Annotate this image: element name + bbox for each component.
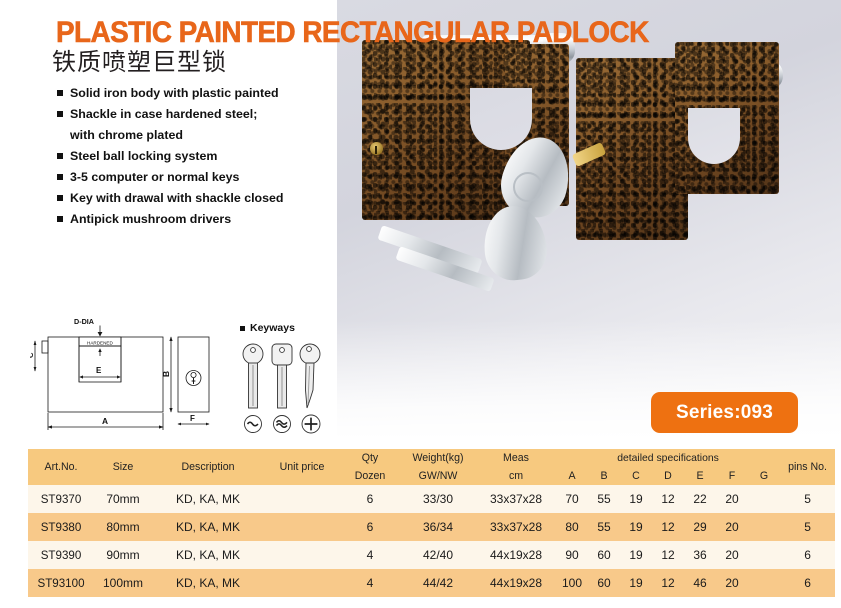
cell-qty-dozen: 6 bbox=[340, 485, 400, 513]
page-subtitle-chinese: 铁质喷塑巨型锁 bbox=[52, 50, 227, 74]
feature-item-continuation: with chrome plated bbox=[57, 128, 337, 144]
cell-spec-b: 60 bbox=[588, 541, 620, 569]
cell-art-no: ST9380 bbox=[28, 513, 94, 541]
cell-weight: 44/42 bbox=[400, 569, 476, 597]
cell-spec-d: 12 bbox=[652, 569, 684, 597]
feature-item: Key with drawal with shackle closed bbox=[57, 191, 337, 207]
cell-qty-dozen: 4 bbox=[340, 541, 400, 569]
cell-size: 90mm bbox=[94, 541, 152, 569]
header-weight-line1: Weight(kg) bbox=[400, 449, 476, 467]
header-spec-c: C bbox=[620, 467, 652, 485]
product-spec-sheet: Series:093 PLASTIC PAINTED RECTANGULAR P… bbox=[0, 0, 841, 608]
table-row: ST9380 80mm KD, KA, MK 6 36/34 33x37x28 … bbox=[28, 513, 835, 541]
cell-spec-f: 20 bbox=[716, 485, 748, 513]
cell-description: KD, KA, MK bbox=[152, 541, 264, 569]
table-row: ST93100 100mm KD, KA, MK 4 44/42 44x19x2… bbox=[28, 569, 835, 597]
header-unit-price: Unit price bbox=[264, 449, 340, 485]
dimension-label-e: E bbox=[96, 366, 102, 375]
feature-item: 3-5 computer or normal keys bbox=[57, 170, 337, 186]
feature-text: 3-5 computer or normal keys bbox=[70, 170, 239, 186]
cell-spec-g bbox=[748, 513, 780, 541]
cell-spec-f: 20 bbox=[716, 569, 748, 597]
cell-art-no: ST9390 bbox=[28, 541, 94, 569]
cell-unit-price bbox=[264, 513, 340, 541]
dimension-label-b: B bbox=[161, 371, 171, 377]
bullet-square-icon bbox=[57, 90, 63, 96]
keyways-illustration bbox=[240, 338, 340, 438]
header-spec-g: G bbox=[748, 467, 780, 485]
keyways-title: Keyways bbox=[240, 322, 340, 334]
cell-description: KD, KA, MK bbox=[152, 513, 264, 541]
feature-item: Shackle in case hardened steel; bbox=[57, 107, 337, 123]
cell-unit-price bbox=[264, 485, 340, 513]
key-ring bbox=[513, 172, 543, 202]
cell-spec-e: 36 bbox=[684, 541, 716, 569]
cell-spec-e: 22 bbox=[684, 485, 716, 513]
cell-spec-g bbox=[748, 485, 780, 513]
cell-pins-no: 6 bbox=[780, 569, 835, 597]
cell-spec-c: 19 bbox=[620, 513, 652, 541]
feature-text: Solid iron body with plastic painted bbox=[70, 86, 279, 102]
series-badge: Series:093 bbox=[651, 392, 798, 433]
product-photo-panel: Series:093 bbox=[337, 0, 841, 440]
cell-weight: 36/34 bbox=[400, 513, 476, 541]
cell-spec-d: 12 bbox=[652, 513, 684, 541]
cell-spec-c: 19 bbox=[620, 485, 652, 513]
header-weight-line2: GW/NW bbox=[400, 467, 476, 485]
padlock-left-shackle-gap bbox=[470, 88, 532, 150]
cell-weight: 42/40 bbox=[400, 541, 476, 569]
cell-spec-g bbox=[748, 541, 780, 569]
bullet-placeholder-icon bbox=[57, 132, 63, 138]
cell-spec-a: 100 bbox=[556, 569, 588, 597]
cell-pins-no: 6 bbox=[780, 541, 835, 569]
dimension-label-f: F bbox=[190, 414, 195, 423]
cell-spec-f: 20 bbox=[716, 513, 748, 541]
cell-description: KD, KA, MK bbox=[152, 485, 264, 513]
bullet-square-icon bbox=[57, 174, 63, 180]
table-header-group-row: Art.No. Size Description Unit price Qty … bbox=[28, 449, 835, 467]
header-spec-e: E bbox=[684, 467, 716, 485]
cell-spec-b: 55 bbox=[588, 485, 620, 513]
cell-meas: 44x19x28 bbox=[476, 541, 556, 569]
header-pins-no: pins No. bbox=[780, 449, 835, 485]
cell-unit-price bbox=[264, 541, 340, 569]
cell-pins-no: 5 bbox=[780, 485, 835, 513]
cell-qty-dozen: 4 bbox=[340, 569, 400, 597]
cell-spec-b: 55 bbox=[588, 513, 620, 541]
header-art-no: Art.No. bbox=[28, 449, 94, 485]
feature-item: Solid iron body with plastic painted bbox=[57, 86, 337, 102]
header-detailed-specifications: detailed specifications bbox=[556, 449, 780, 467]
specification-table-wrapper: Art.No. Size Description Unit price Qty … bbox=[28, 449, 815, 597]
cell-spec-c: 19 bbox=[620, 541, 652, 569]
cell-pins-no: 5 bbox=[780, 513, 835, 541]
header-size: Size bbox=[94, 449, 152, 485]
cell-spec-f: 20 bbox=[716, 541, 748, 569]
cell-size: 80mm bbox=[94, 513, 152, 541]
header-description: Description bbox=[152, 449, 264, 485]
feature-text: with chrome plated bbox=[70, 128, 183, 144]
bullet-square-icon bbox=[240, 326, 245, 331]
cell-meas: 33x37x28 bbox=[476, 513, 556, 541]
feature-text: Key with drawal with shackle closed bbox=[70, 191, 283, 207]
feature-list: Solid iron body with plastic painted Sha… bbox=[57, 86, 337, 233]
cell-meas: 44x19x28 bbox=[476, 569, 556, 597]
padlock-right-shackle-gap bbox=[688, 108, 740, 164]
cell-spec-e: 46 bbox=[684, 569, 716, 597]
dimension-label-c: C bbox=[30, 352, 35, 358]
padlock-left-keyhole bbox=[370, 142, 383, 155]
header-spec-d: D bbox=[652, 467, 684, 485]
cell-spec-d: 12 bbox=[652, 485, 684, 513]
cell-spec-a: 70 bbox=[556, 485, 588, 513]
feature-item: Antipick mushroom drivers bbox=[57, 212, 337, 228]
header-qty-line1: Qty bbox=[340, 449, 400, 467]
header-qty-line2: Dozen bbox=[340, 467, 400, 485]
table-row: ST9390 90mm KD, KA, MK 4 42/40 44x19x28 … bbox=[28, 541, 835, 569]
header-spec-f: F bbox=[716, 467, 748, 485]
cell-size: 70mm bbox=[94, 485, 152, 513]
keyways-title-label: Keyways bbox=[250, 322, 295, 334]
header-meas-line1: Meas bbox=[476, 449, 556, 467]
header-spec-b: B bbox=[588, 467, 620, 485]
cell-spec-d: 12 bbox=[652, 541, 684, 569]
cell-spec-c: 19 bbox=[620, 569, 652, 597]
cell-spec-g bbox=[748, 569, 780, 597]
bullet-square-icon bbox=[57, 111, 63, 117]
page-title: PLASTIC PAINTED RECTANGULAR PADLOCK bbox=[56, 18, 649, 48]
feature-text: Steel ball locking system bbox=[70, 149, 217, 165]
cell-spec-a: 80 bbox=[556, 513, 588, 541]
cell-unit-price bbox=[264, 569, 340, 597]
cell-size: 100mm bbox=[94, 569, 152, 597]
dimension-label-a: A bbox=[102, 416, 108, 426]
series-badge-label: Series:093 bbox=[676, 402, 773, 424]
table-row: ST9370 70mm KD, KA, MK 6 33/30 33x37x28 … bbox=[28, 485, 835, 513]
technical-drawing: D-DIA HARDENED E A bbox=[30, 315, 230, 440]
cell-spec-e: 29 bbox=[684, 513, 716, 541]
dimension-label-d-dia: D-DIA bbox=[74, 317, 94, 326]
table-header: Art.No. Size Description Unit price Qty … bbox=[28, 449, 835, 485]
table-body: ST9370 70mm KD, KA, MK 6 33/30 33x37x28 … bbox=[28, 485, 835, 597]
specification-table: Art.No. Size Description Unit price Qty … bbox=[28, 449, 835, 597]
cell-spec-b: 60 bbox=[588, 569, 620, 597]
bullet-square-icon bbox=[57, 153, 63, 159]
cell-art-no: ST9370 bbox=[28, 485, 94, 513]
cell-description: KD, KA, MK bbox=[152, 569, 264, 597]
feature-item: Steel ball locking system bbox=[57, 149, 337, 165]
feature-text: Antipick mushroom drivers bbox=[70, 212, 231, 228]
cell-art-no: ST93100 bbox=[28, 569, 94, 597]
dimension-label-hardened: HARDENED bbox=[87, 340, 113, 345]
cell-qty-dozen: 6 bbox=[340, 513, 400, 541]
padlock-dimension-diagram: D-DIA HARDENED E A bbox=[30, 315, 230, 440]
bullet-square-icon bbox=[57, 216, 63, 222]
header-spec-a: A bbox=[556, 467, 588, 485]
cell-weight: 33/30 bbox=[400, 485, 476, 513]
feature-text: Shackle in case hardened steel; bbox=[70, 107, 257, 123]
keyways-section: Keyways bbox=[240, 322, 340, 440]
bullet-square-icon bbox=[57, 195, 63, 201]
cell-spec-a: 90 bbox=[556, 541, 588, 569]
header-meas-line2: cm bbox=[476, 467, 556, 485]
cell-meas: 33x37x28 bbox=[476, 485, 556, 513]
